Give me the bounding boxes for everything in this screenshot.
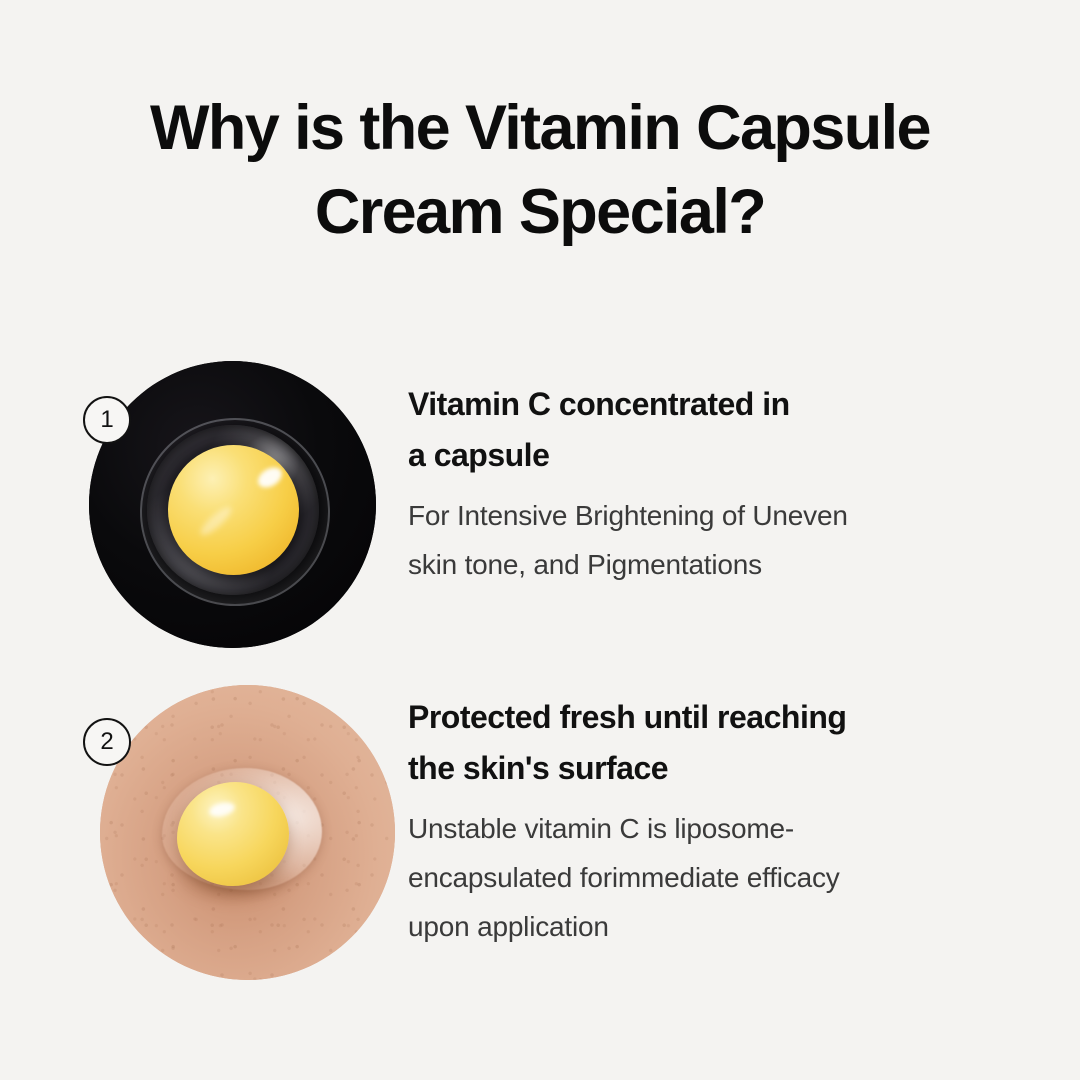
feature-1-photo-wrap <box>89 361 376 648</box>
feature-2-heading: Protected fresh until reaching the skin'… <box>408 692 1022 794</box>
feature-2-body-line-1: Unstable vitamin C is liposome- <box>408 804 1022 853</box>
page-title-line-2: Cream Special? <box>60 170 1020 254</box>
feature-1-body: For Intensive Brightening of Uneven skin… <box>408 491 1022 589</box>
feature-1-heading-line-1: Vitamin C concentrated in <box>408 379 1022 430</box>
feature-1-body-line-1: For Intensive Brightening of Uneven <box>408 491 1022 540</box>
feature-1-heading: Vitamin C concentrated in a capsule <box>408 379 1022 481</box>
capsule-secondary-highlight <box>197 504 235 540</box>
infographic-poster: Why is the Vitamin Capsule Cream Special… <box>0 0 1080 1080</box>
released-golden-serum <box>177 782 289 886</box>
feature-2-heading-line-2: the skin's surface <box>408 743 1022 794</box>
capsule-on-skin-photo <box>100 685 395 980</box>
feature-2-body: Unstable vitamin C is liposome- encapsul… <box>408 804 1022 951</box>
capsule-glossy-shell <box>147 425 319 595</box>
capsule-highlight <box>254 463 285 491</box>
capsule-on-black-background-photo <box>89 361 376 648</box>
feature-2-heading-line-1: Protected fresh until reaching <box>408 692 1022 743</box>
feature-1-body-line-2: skin tone, and Pigmentations <box>408 540 1022 589</box>
feature-2-body-line-2: encapsulated forimmediate efficacy <box>408 853 1022 902</box>
feature-number-badge-1: 1 <box>83 396 131 444</box>
feature-number-badge-2: 2 <box>83 718 131 766</box>
feature-2-text: Protected fresh until reaching the skin'… <box>408 692 1022 951</box>
capsule-golden-serum <box>168 445 299 575</box>
feature-1-heading-line-2: a capsule <box>408 430 1022 481</box>
page-title-line-1: Why is the Vitamin Capsule <box>60 86 1020 170</box>
feature-2-body-line-3: upon application <box>408 902 1022 951</box>
feature-2-photo-wrap <box>100 685 395 980</box>
page-title: Why is the Vitamin Capsule Cream Special… <box>60 86 1020 254</box>
feature-1-text: Vitamin C concentrated in a capsule For … <box>408 379 1022 589</box>
